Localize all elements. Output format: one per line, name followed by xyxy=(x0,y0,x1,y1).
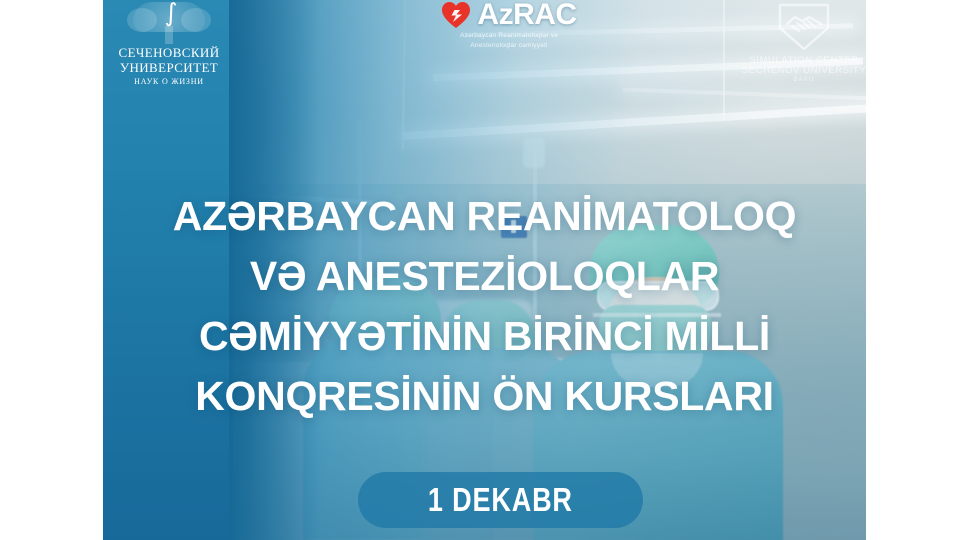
date-badge: 1 DEKABR xyxy=(358,472,643,528)
simulation-center-line3: BAKU xyxy=(739,77,866,83)
headline-line-4: KONQRESİNİN ÖN KURSLARI xyxy=(103,366,866,426)
sechenov-line2: УНИВЕРСИТЕТ xyxy=(110,60,228,75)
poster-image: ∫ СЕЧЕНОВСКИЙ УНИВЕРСИТЕТ НАУК О ЖИЗНИ A… xyxy=(103,0,866,540)
tree-trunk xyxy=(165,26,173,44)
sechenov-line1: СЕЧЕНОВСКИЙ xyxy=(110,46,228,60)
headline-line-3: CƏMİYYƏTİNİN BİRİNCİ MİLLİ xyxy=(103,306,866,366)
azrac-name: AzRAC xyxy=(477,0,576,30)
page-title: AZƏRBAYCAN REANİMATOLOQ VƏ ANESTEZİOLOQL… xyxy=(103,186,866,426)
headline-line-1: AZƏRBAYCAN REANİMATOLOQ xyxy=(103,186,866,246)
azrac-subtitle-line2: Anesterioloqlar cəmiyyəti xyxy=(399,41,619,50)
simulation-center-line2: SECHENOV UNIVERSITY xyxy=(739,65,866,76)
logo-azrac: AzRAC Azərbaycan Reanimatoloqlar və Anes… xyxy=(399,0,619,50)
handshake-shield-icon xyxy=(775,2,833,52)
dna-glyph: ∫ xyxy=(161,0,181,26)
logo-sechenov-university: ∫ СЕЧЕНОВСКИЙ УНИВЕРСИТЕТ НАУК О ЖИЗНИ xyxy=(110,2,228,86)
sechenov-line3: НАУК О ЖИЗНИ xyxy=(110,77,228,86)
azrac-subtitle-line1: Azərbaycan Reanimatoloqlar və xyxy=(399,31,619,40)
azrac-wordmark-row: AzRAC xyxy=(399,0,619,30)
logo-simulation-center: SIMULATION CENTER SECHENOV UNIVERSITY BA… xyxy=(739,2,866,83)
heart-icon xyxy=(441,1,471,29)
poster-stage: ∫ СЕЧЕНОВСКИЙ УНИВЕРСИТЕТ НАУК О ЖИЗНИ A… xyxy=(0,0,960,540)
headline-line-2: VƏ ANESTEZİOLOQLAR xyxy=(103,246,866,306)
date-badge-label: 1 DEKABR xyxy=(428,483,573,517)
tree-dna-icon: ∫ xyxy=(133,2,205,44)
